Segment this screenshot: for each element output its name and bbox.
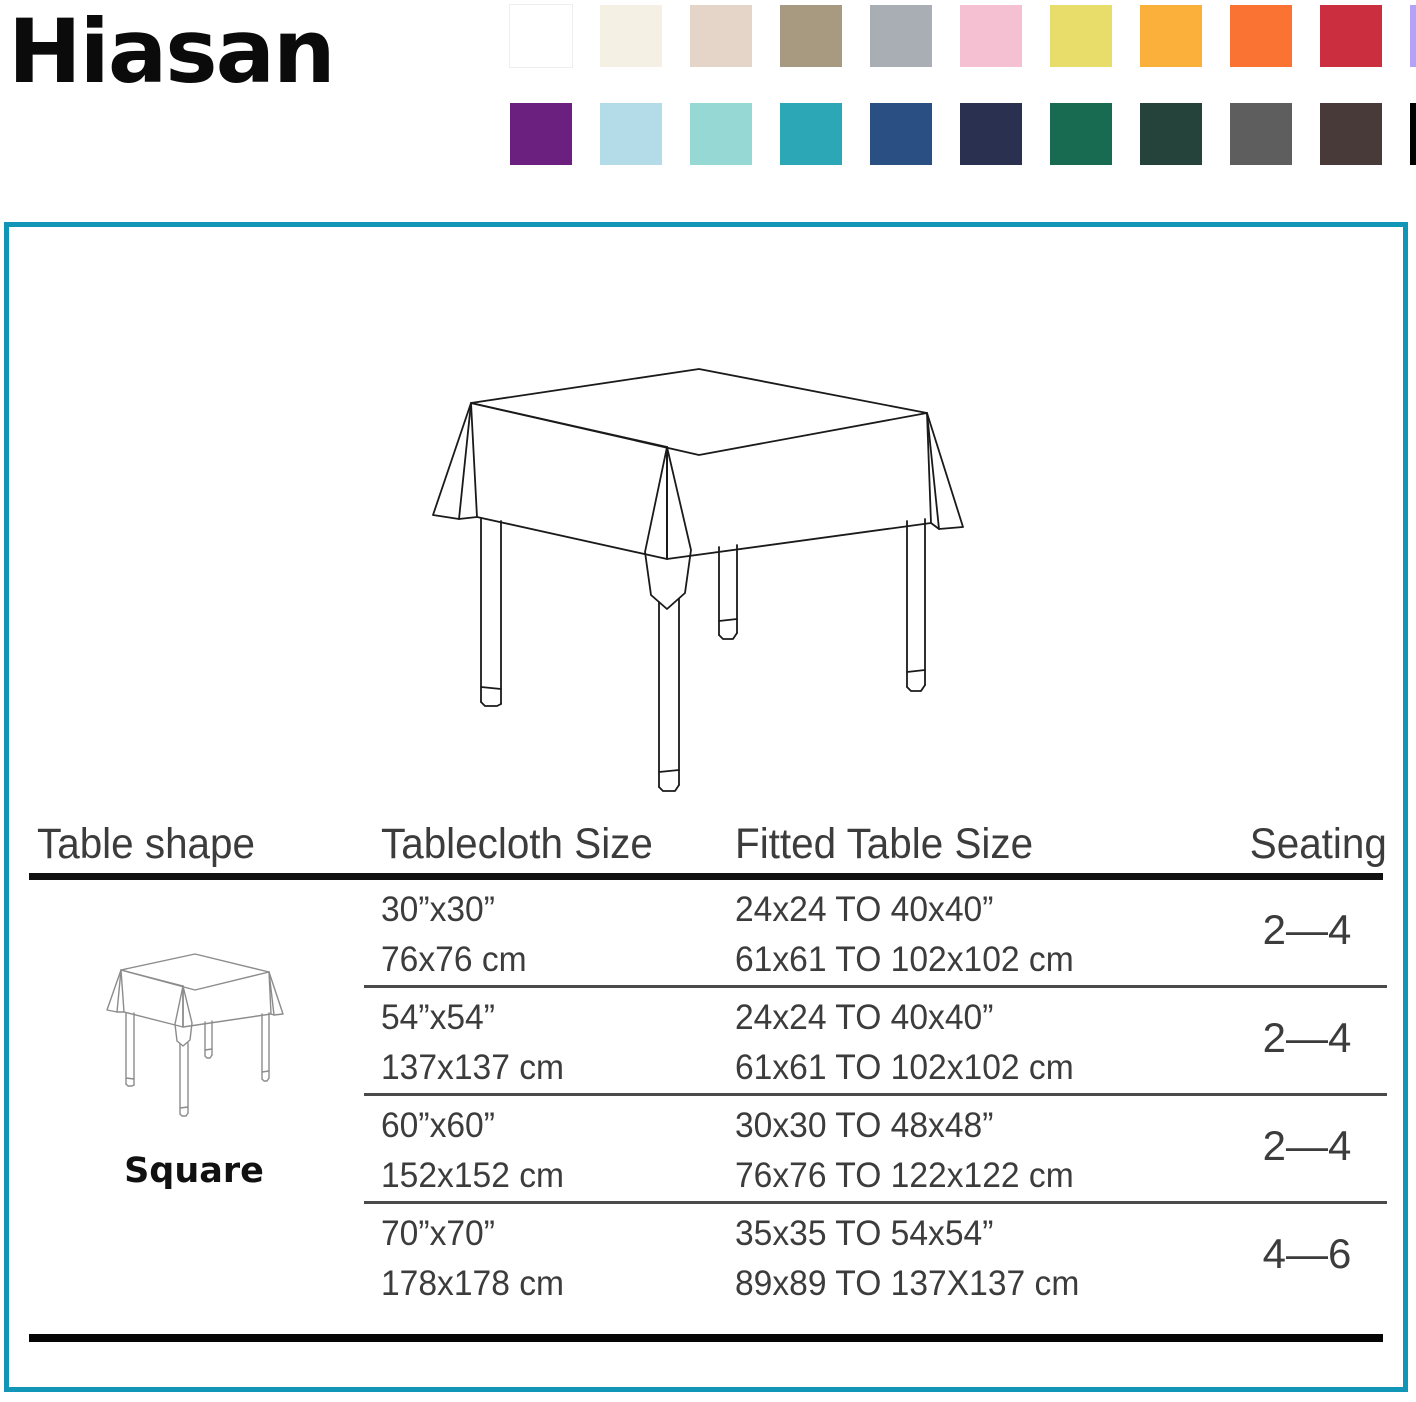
- color-swatch-lavender[interactable]: [1410, 5, 1416, 67]
- cell-tablecloth-size-inches: 30”x30”: [381, 890, 495, 930]
- color-swatch-grid: [510, 5, 1410, 201]
- swatch-row-2: [510, 103, 1410, 165]
- table-header-row: Table shape Tablecloth Size Fitted Table…: [29, 807, 1387, 869]
- swatch-row-1: [510, 5, 1410, 67]
- color-swatch-emerald[interactable]: [1050, 103, 1112, 165]
- size-data-rows: 30”x30”76x76 cm24x24 TO 40x40”61x61 TO 1…: [364, 880, 1387, 1309]
- color-swatch-beige[interactable]: [690, 5, 752, 67]
- cell-tablecloth-size-cm: 178x178 cm: [381, 1264, 564, 1304]
- cell-seating: 2—4: [1227, 906, 1387, 954]
- color-swatch-teal[interactable]: [780, 103, 842, 165]
- color-swatch-red[interactable]: [1320, 5, 1382, 67]
- color-swatch-charcoal-gray[interactable]: [1230, 103, 1292, 165]
- cell-fitted-size-inches: 35x35 TO 54x54”: [735, 1214, 993, 1254]
- cell-fitted-size-cm: 61x61 TO 102x102 cm: [735, 940, 1074, 980]
- content-frame: Table shape Tablecloth Size Fitted Table…: [4, 222, 1408, 1392]
- color-swatch-forest-green[interactable]: [1140, 103, 1202, 165]
- color-swatch-light-blue[interactable]: [600, 103, 662, 165]
- cell-seating: 4—6: [1227, 1230, 1387, 1278]
- color-swatch-purple[interactable]: [510, 103, 572, 165]
- cell-tablecloth-size-inches: 60”x60”: [381, 1106, 495, 1146]
- table-body: Square 30”x30”76x76 cm24x24 TO 40x40”61x…: [29, 880, 1387, 1332]
- cell-seating: 2—4: [1227, 1122, 1387, 1170]
- column-header-table-shape: Table shape: [37, 820, 255, 869]
- brand-logo: Hiasan: [8, 8, 334, 96]
- table-shape-cell: Square: [29, 898, 359, 1191]
- cell-fitted-size-cm: 61x61 TO 102x102 cm: [735, 1048, 1074, 1088]
- cell-tablecloth-size-cm: 137x137 cm: [381, 1048, 564, 1088]
- color-swatch-dark-brown[interactable]: [1320, 103, 1382, 165]
- cell-seating: 2—4: [1227, 1014, 1387, 1062]
- square-table-tablecloth-illustration: [419, 347, 979, 812]
- cell-fitted-size-inches: 30x30 TO 48x48”: [735, 1106, 993, 1146]
- square-table-icon: [79, 946, 309, 1141]
- color-swatch-yellow[interactable]: [1050, 5, 1112, 67]
- color-swatch-pink[interactable]: [960, 5, 1022, 67]
- table-header-rule: [29, 873, 1383, 880]
- cell-tablecloth-size-inches: 70”x70”: [381, 1214, 495, 1254]
- color-swatch-orange[interactable]: [1230, 5, 1292, 67]
- cell-tablecloth-size-cm: 152x152 cm: [381, 1156, 564, 1196]
- table-bottom-rule: [29, 1334, 1383, 1342]
- cell-fitted-size-cm: 89x89 TO 137X137 cm: [735, 1264, 1079, 1304]
- table-shape-label: Square: [29, 1151, 359, 1191]
- column-header-seating: Seating: [1250, 820, 1387, 869]
- cell-tablecloth-size-cm: 76x76 cm: [381, 940, 527, 980]
- table-row: 60”x60”152x152 cm30x30 TO 48x48”76x76 TO…: [364, 1096, 1387, 1204]
- table-row: 54”x54”137x137 cm24x24 TO 40x40”61x61 TO…: [364, 988, 1387, 1096]
- table-row: 30”x30”76x76 cm24x24 TO 40x40”61x61 TO 1…: [364, 880, 1387, 988]
- column-header-fitted-table-size: Fitted Table Size: [735, 820, 1033, 869]
- cell-tablecloth-size-inches: 54”x54”: [381, 998, 495, 1038]
- color-swatch-white[interactable]: [510, 5, 572, 67]
- size-table: Table shape Tablecloth Size Fitted Table…: [29, 807, 1387, 1342]
- color-swatch-denim-blue[interactable]: [870, 103, 932, 165]
- column-header-tablecloth-size: Tablecloth Size: [381, 820, 653, 869]
- color-swatch-ivory[interactable]: [600, 5, 662, 67]
- color-swatch-gold[interactable]: [1140, 5, 1202, 67]
- table-row: 70”x70”178x178 cm35x35 TO 54x54”89x89 TO…: [364, 1204, 1387, 1309]
- cell-fitted-size-inches: 24x24 TO 40x40”: [735, 998, 993, 1038]
- color-swatch-black[interactable]: [1410, 103, 1416, 165]
- cell-fitted-size-cm: 76x76 TO 122x122 cm: [735, 1156, 1074, 1196]
- color-swatch-navy[interactable]: [960, 103, 1022, 165]
- color-swatch-taupe[interactable]: [780, 5, 842, 67]
- color-swatch-aqua[interactable]: [690, 103, 752, 165]
- cell-fitted-size-inches: 24x24 TO 40x40”: [735, 890, 993, 930]
- color-swatch-gray[interactable]: [870, 5, 932, 67]
- header-band: Hiasan: [0, 0, 1416, 200]
